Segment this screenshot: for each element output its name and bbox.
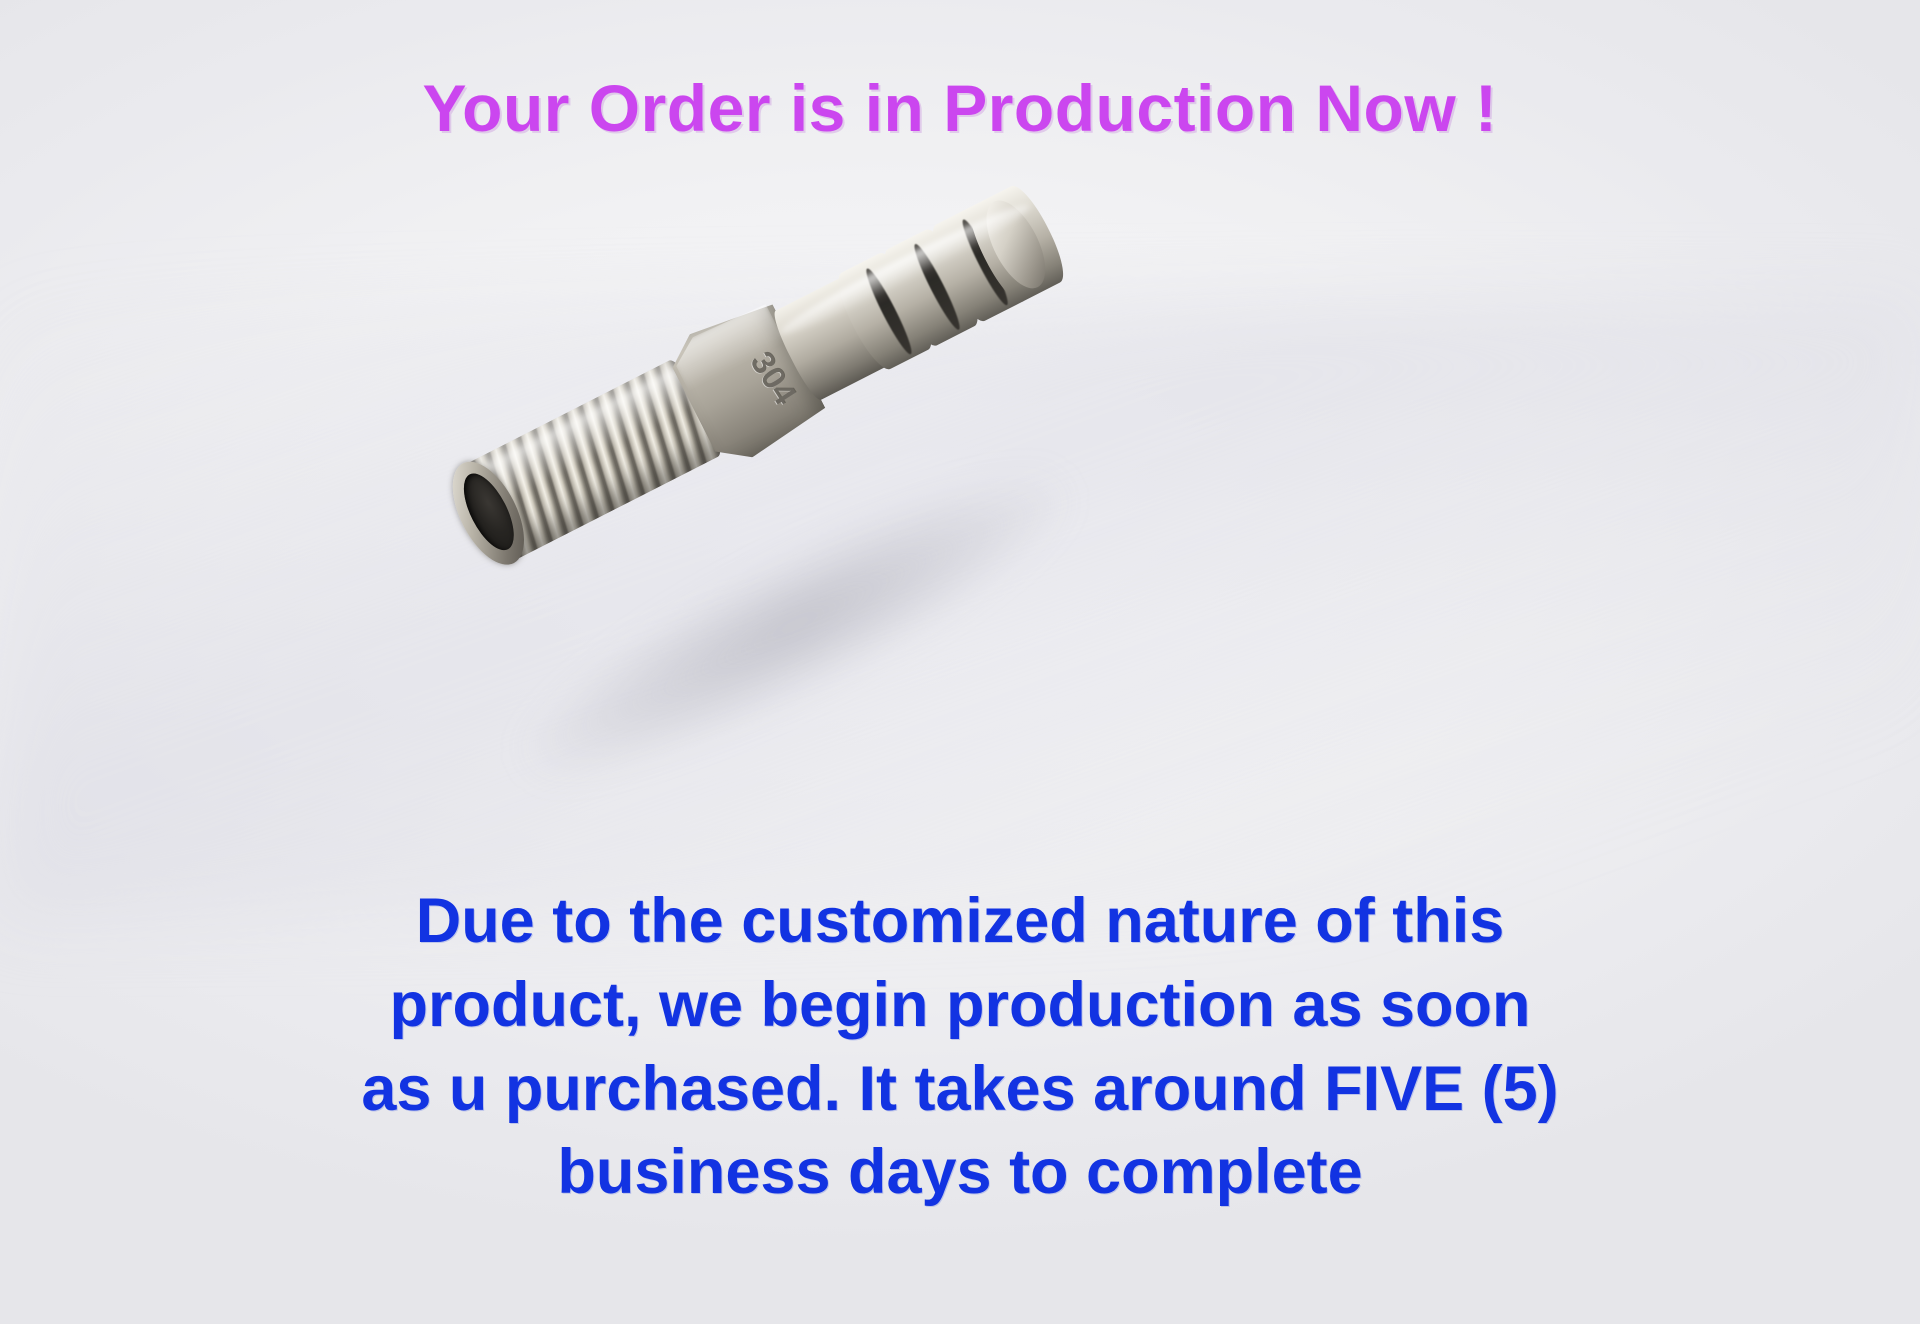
promo-banner: Your Order is in Production Now ! 304 Du…	[0, 0, 1920, 1324]
notice-line-3: as u purchased. It takes around FIVE (5)	[0, 1048, 1920, 1132]
production-notice: Due to the customized nature of this pro…	[0, 880, 1920, 1215]
notice-line-1: Due to the customized nature of this	[0, 880, 1920, 964]
notice-line-4: business days to complete	[0, 1131, 1920, 1215]
page-title: Your Order is in Production Now !	[0, 70, 1920, 146]
product-photo: 304	[455, 300, 1155, 750]
notice-line-2: product, we begin production as soon	[0, 964, 1920, 1048]
